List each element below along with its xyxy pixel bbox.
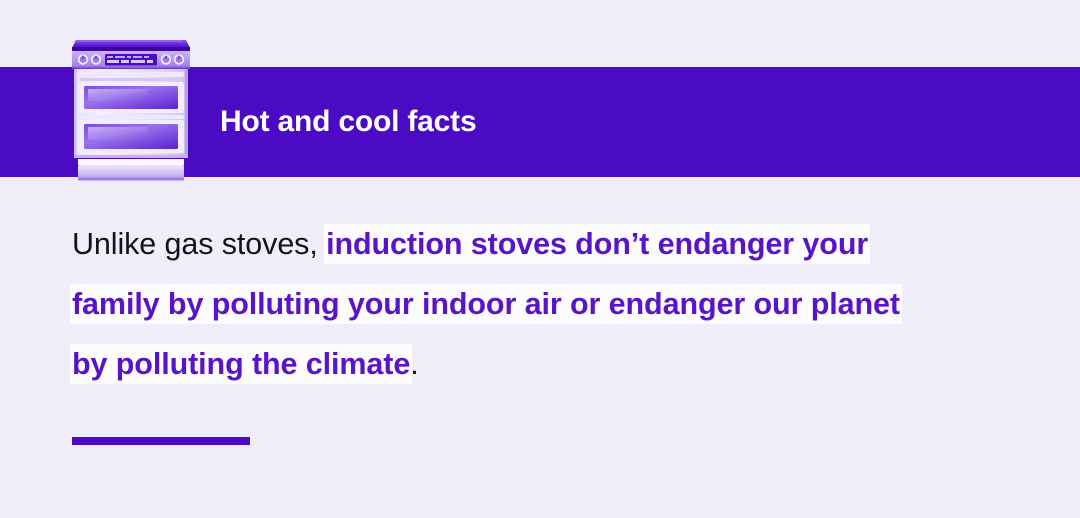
accent-divider <box>72 437 250 445</box>
induction-stove-illustration <box>68 26 194 181</box>
page-title: Hot and cool facts <box>220 67 476 177</box>
fact-text-highlight-line2: family by polluting your indoor air or e… <box>72 286 900 322</box>
fact-card: Hot and cool facts <box>0 0 1080 518</box>
fact-text-plain-lead: Unlike gas stoves, <box>72 227 318 261</box>
stove-warming-drawer <box>74 155 188 181</box>
stove-control-panel <box>72 51 190 69</box>
fact-text-highlight-line3: by polluting the climate <box>72 346 410 382</box>
stove-knob-left-2 <box>91 54 101 64</box>
stove-knob-right-2 <box>174 54 184 64</box>
fact-text-highlight-line1: induction stoves don’t endanger your <box>326 226 868 262</box>
fact-body-text: Unlike gas stoves, induction stoves don’… <box>72 214 1032 394</box>
stove-lower-oven-door <box>78 115 184 153</box>
stove-cooktop <box>72 40 190 51</box>
stove-digital-display <box>105 54 157 66</box>
stove-upper-oven-door <box>78 72 184 113</box>
fact-text-trailing-period: . <box>410 347 418 381</box>
stove-knob-right-1 <box>161 54 171 64</box>
stove-knob-left-1 <box>78 54 88 64</box>
